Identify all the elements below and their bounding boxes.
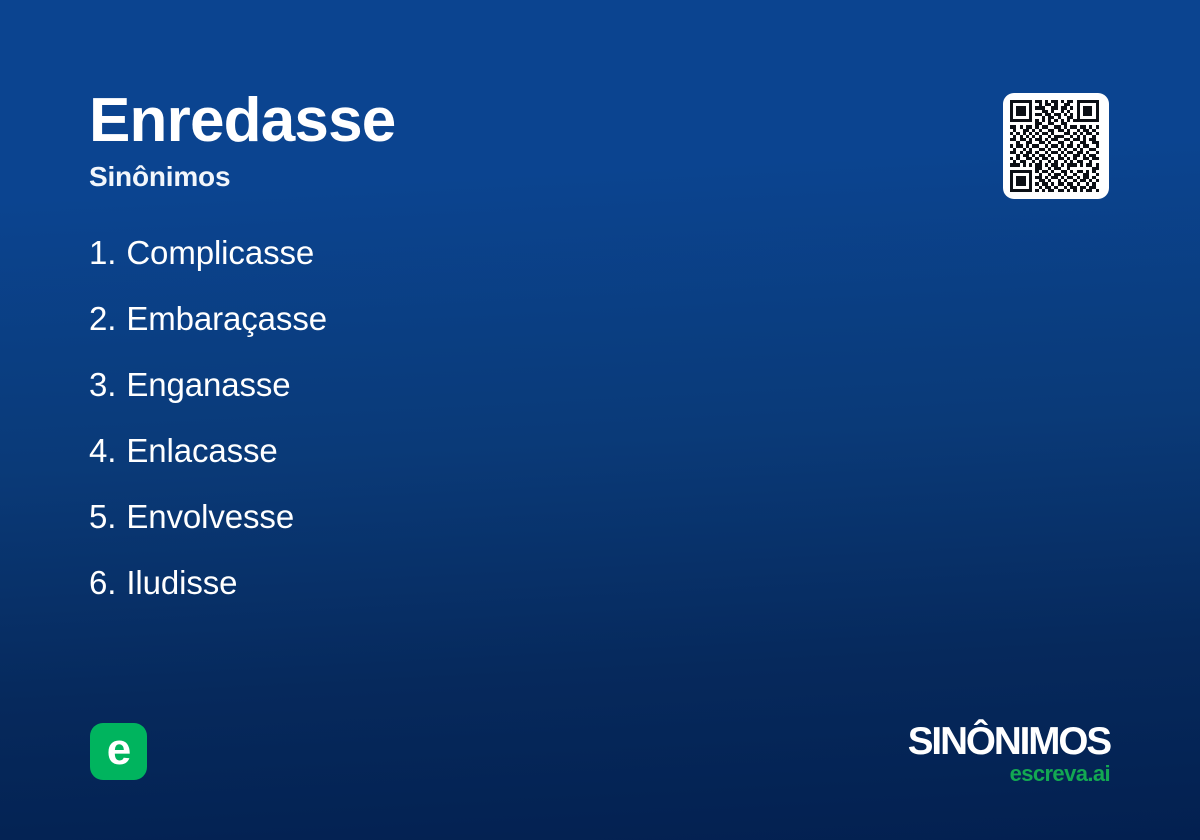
- synonym-list: 1. Complicasse 2. Embaraçasse 3. Enganas…: [89, 232, 849, 628]
- page-title: Enredasse: [89, 88, 709, 154]
- brand-name: SINÔNIMOS: [880, 722, 1110, 761]
- list-item: 6. Iludisse: [89, 562, 849, 628]
- list-item-index: 6.: [89, 562, 116, 604]
- list-item-index: 2.: [89, 298, 116, 340]
- escreva-logo-badge[interactable]: e: [90, 723, 147, 780]
- list-item-word: Enlacasse: [126, 430, 277, 472]
- badge-letter: e: [107, 728, 130, 772]
- list-item: 3. Enganasse: [89, 364, 849, 430]
- qr-code-icon: [1010, 100, 1102, 192]
- qr-code-card[interactable]: [1003, 93, 1109, 199]
- list-item-word: Iludisse: [126, 562, 237, 604]
- list-item-word: Envolvesse: [126, 496, 294, 538]
- synonym-card: Enredasse Sinônimos 1. Complicasse 2. Em…: [0, 0, 1200, 840]
- list-item-word: Enganasse: [126, 364, 290, 406]
- list-item-index: 1.: [89, 232, 116, 274]
- list-item: 4. Enlacasse: [89, 430, 849, 496]
- footer-brand: SINÔNIMOS escreva.ai: [878, 722, 1110, 786]
- brand-domain: escreva.ai: [878, 762, 1110, 786]
- list-item-word: Complicasse: [126, 232, 314, 274]
- list-item-index: 4.: [89, 430, 116, 472]
- page-subtitle: Sinônimos: [89, 160, 709, 194]
- list-item: 5. Envolvesse: [89, 496, 849, 562]
- list-item-index: 5.: [89, 496, 116, 538]
- list-item: 2. Embaraçasse: [89, 298, 849, 364]
- card-header: Enredasse Sinônimos: [89, 88, 709, 194]
- list-item: 1. Complicasse: [89, 232, 849, 298]
- list-item-index: 3.: [89, 364, 116, 406]
- list-item-word: Embaraçasse: [126, 298, 327, 340]
